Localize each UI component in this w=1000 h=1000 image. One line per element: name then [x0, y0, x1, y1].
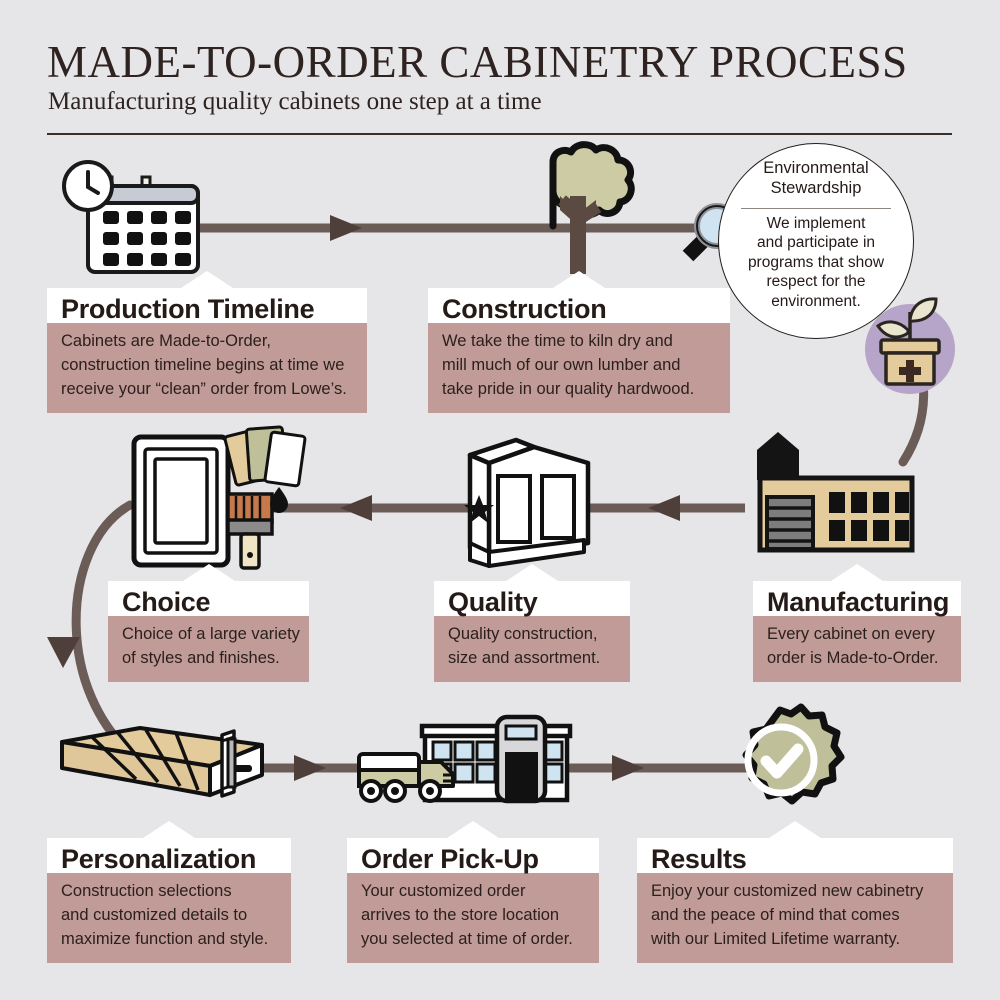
tree-icon [553, 145, 631, 274]
step-body: Cabinets are Made-to-Order, construction… [47, 310, 367, 413]
step-body: Construction selections and customized d… [47, 860, 291, 963]
calendar-clock-icon [64, 162, 198, 272]
step-title: Quality [434, 581, 630, 616]
step-body: Enjoy your customized new cabinetry and … [637, 860, 953, 963]
check-badge-icon [746, 707, 841, 801]
factory-icon [757, 432, 912, 550]
callout-body: We implement and participate in programs… [733, 214, 899, 311]
step-card-results: Results Enjoy your customized new cabine… [637, 838, 953, 963]
card-notch [553, 271, 605, 288]
step-title: Manufacturing [753, 581, 961, 616]
step-title: Construction [428, 288, 730, 323]
card-notch [447, 821, 499, 838]
card-notch [831, 564, 883, 581]
card-notch [143, 821, 195, 838]
paint-brush-icon [228, 487, 288, 568]
card-notch [506, 564, 558, 581]
truck-store-icon [359, 717, 570, 801]
step-title: Choice [108, 581, 309, 616]
step-card-choice: Choice Choice of a large variety of styl… [108, 581, 309, 682]
paint-sample-cards [224, 427, 305, 486]
card-notch [181, 271, 233, 288]
infographic-root: MADE-TO-ORDER CABINETRY PROCESS Manufact… [0, 0, 1000, 1000]
step-card-production-timeline: Production Timeline Cabinets are Made-to… [47, 288, 367, 413]
step-card-order-pick-up: Order Pick-Up Your customized order arri… [347, 838, 599, 963]
step-title: Results [637, 838, 953, 873]
step-card-quality: Quality Quality construction, size and a… [434, 581, 630, 682]
callout-divider [741, 208, 891, 209]
card-notch [769, 821, 821, 838]
drawer-handle-icon [62, 728, 262, 796]
door-paint-samples-icon [134, 427, 305, 568]
step-card-manufacturing: Manufacturing Every cabinet on every ord… [753, 581, 961, 682]
environmental-stewardship-callout: Environmental Stewardship We implement a… [718, 143, 914, 339]
step-title: Order Pick-Up [347, 838, 599, 873]
cabinet-handle-icon [222, 731, 235, 796]
step-title: Personalization [47, 838, 291, 873]
step-card-construction: Construction We take the time to kiln dr… [428, 288, 730, 413]
callout-title: Environmental Stewardship [719, 158, 913, 198]
step-body: Your customized order arrives to the sto… [347, 860, 599, 963]
step-title: Production Timeline [47, 288, 367, 323]
step-body: We take the time to kiln dry and mill mu… [428, 310, 730, 413]
cabinet-icon [464, 440, 588, 566]
card-notch [183, 564, 235, 581]
step-card-personalization: Personalization Construction selections … [47, 838, 291, 963]
